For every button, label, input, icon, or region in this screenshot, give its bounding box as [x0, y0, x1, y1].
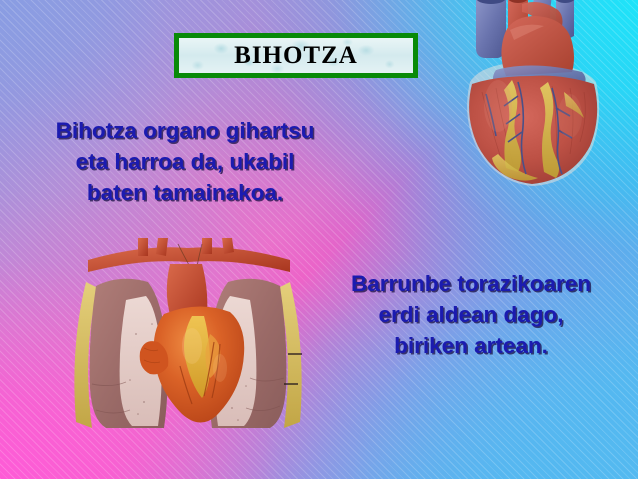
body-text-block-2: Barrunbe torazikoaren erdi aldean dago, …	[322, 268, 620, 361]
thoracic-cavity-illustration	[52, 238, 324, 444]
anatomical-heart-illustration	[452, 0, 612, 188]
page-title: BIHOTZA	[179, 38, 413, 73]
title-box: BIHOTZA	[174, 33, 418, 78]
slide-canvas: BIHOTZA	[0, 0, 638, 479]
body-text-block-1: Bihotza organo gihartsu eta harroa da, u…	[18, 115, 352, 208]
